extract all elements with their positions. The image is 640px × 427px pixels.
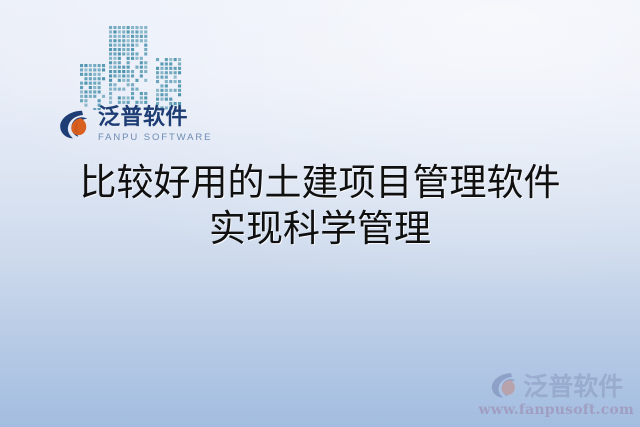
page-title-line-1: 比较好用的土建项目管理软件 — [0, 160, 640, 206]
page-title: 比较好用的土建项目管理软件 实现科学管理 — [0, 160, 640, 252]
watermark: 泛普软件 www.fanpusoft.com — [478, 367, 634, 418]
brand-name-en: FANPU SOFTWARE — [98, 133, 212, 143]
pixel-city-skyline-icon — [76, 24, 188, 110]
brand-text: 泛普软件 FANPU SOFTWARE — [98, 106, 212, 143]
brand-name-cn: 泛普软件 — [98, 106, 212, 128]
page-title-line-2: 实现科学管理 — [0, 206, 640, 252]
fanpu-logo-mark-icon — [57, 107, 91, 141]
brand-lockup: 泛普软件 FANPU SOFTWARE — [57, 106, 212, 143]
watermark-name: 泛普软件 — [523, 367, 623, 403]
watermark-row: 泛普软件 — [489, 367, 623, 403]
promo-banner: 泛普软件 FANPU SOFTWARE 比较好用的土建项目管理软件 实现科学管理… — [0, 0, 640, 427]
watermark-url: www.fanpusoft.com — [478, 402, 634, 418]
fanpu-watermark-mark-icon — [489, 370, 519, 400]
